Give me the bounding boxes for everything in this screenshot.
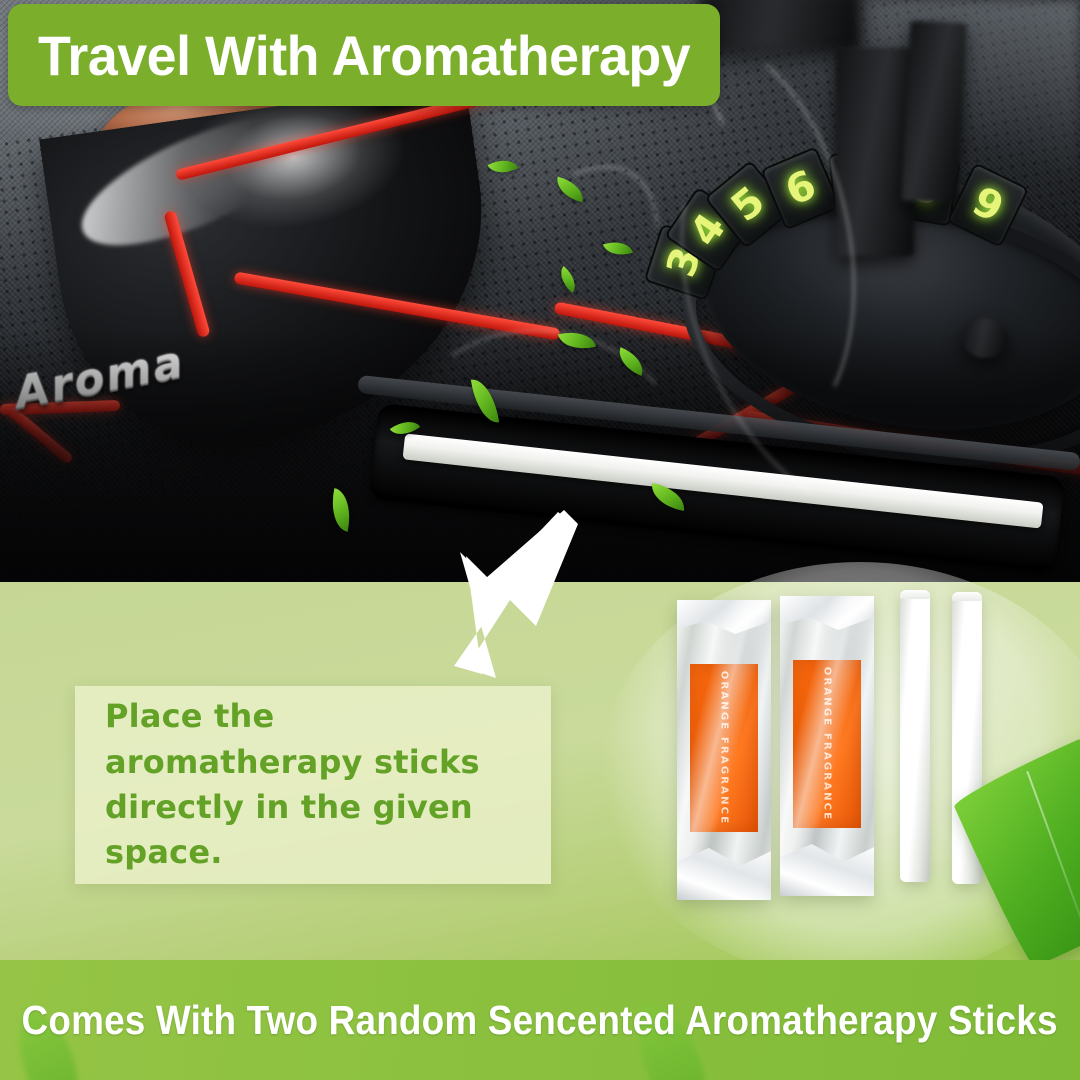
bottom-banner: Comes With Two Random Sencented Aromathe… <box>0 960 1080 1080</box>
callout-arrow-icon <box>452 508 582 678</box>
fragrance-packet: ORANGE FRAGRANCE <box>780 596 874 896</box>
title-banner: Travel With Aromatherapy <box>8 4 720 106</box>
fragrance-packet: ORANGE FRAGRANCE <box>677 600 771 900</box>
instruction-caption-text: Place the aromatherapy sticks directly i… <box>105 694 521 876</box>
packet-sheen <box>780 596 874 896</box>
packet-sheen <box>677 600 771 900</box>
product-image-canvas: Aroma 3456789 ORANGE FRAGRANCE <box>0 0 1080 1080</box>
bottom-banner-text: Comes With Two Random Sencented Aromathe… <box>22 997 1058 1044</box>
aroma-stick <box>900 590 930 882</box>
instruction-caption-box: Place the aromatherapy sticks directly i… <box>75 686 551 884</box>
page-title: Travel With Aromatherapy <box>38 23 690 88</box>
black-clip <box>901 21 966 204</box>
